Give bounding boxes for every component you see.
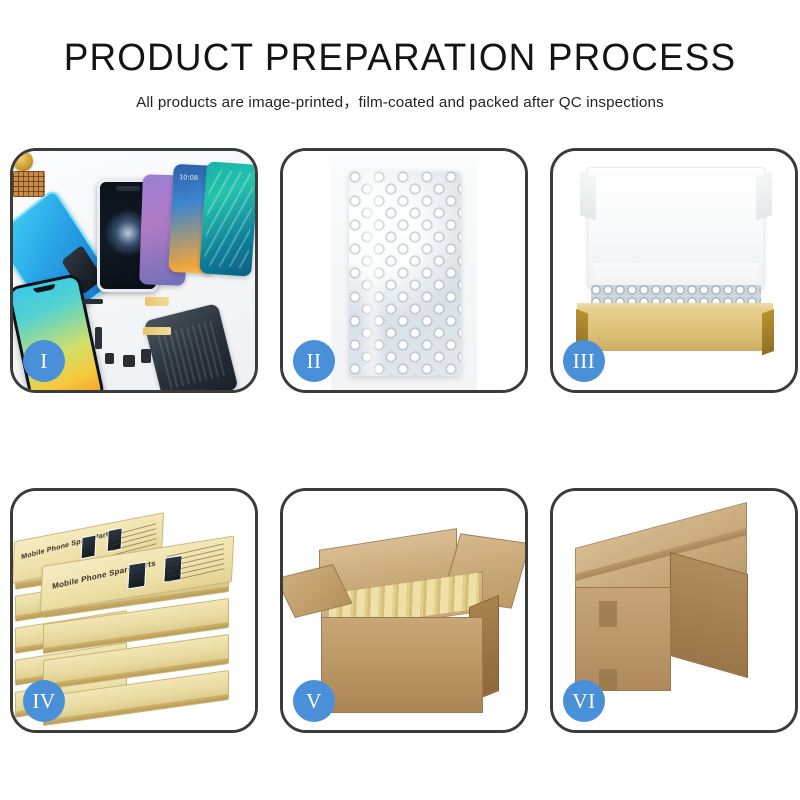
process-step-card-5: V <box>280 488 528 733</box>
product-preparation-process-page: PRODUCT PREPARATION PROCESS All products… <box>0 0 800 800</box>
bubble-wrapped-item <box>349 171 461 376</box>
sealed-carton-front-panel <box>575 587 671 691</box>
flex-ribbon-b <box>143 327 171 335</box>
box-spec-text-block-front <box>167 542 225 582</box>
small-part-strip <box>95 327 102 349</box>
page-subtitle: All products are image-printed，film-coat… <box>0 90 800 112</box>
page-header: PRODUCT PREPARATION PROCESS All products… <box>0 0 800 112</box>
box-front-panel <box>577 309 773 351</box>
process-step-card-2: II <box>280 148 528 393</box>
box-screen-image-c <box>127 562 146 590</box>
carton-front-panel <box>321 617 483 713</box>
phone-clock-label: 10:08 <box>179 174 198 182</box>
step-badge-2: II <box>293 340 335 382</box>
small-part-block <box>105 353 114 364</box>
gold-coil-part <box>13 151 33 171</box>
step-badge-1: I <box>23 340 65 382</box>
small-part-square <box>123 355 135 367</box>
step-badge-4: IV <box>23 680 65 722</box>
process-step-card-1: 10:08 I <box>10 148 258 393</box>
small-part-chip <box>141 349 151 363</box>
process-step-card-4: Mobile Phone Spare Parts Mobile Phone Sp… <box>10 488 258 733</box>
step-badge-5: V <box>293 680 335 722</box>
box-screen-image-a <box>80 534 96 559</box>
process-step-grid: 10:08 I <box>10 148 790 733</box>
copper-chip-part <box>13 171 45 197</box>
flex-ribbon-a <box>145 297 169 306</box>
phone-back-housing <box>143 303 238 390</box>
step-badge-6: VI <box>563 680 605 722</box>
process-step-card-6: VI <box>550 488 798 733</box>
film-gloss-highlight <box>359 171 385 376</box>
carton-tape-lower <box>599 669 617 691</box>
process-step-card-3: III <box>550 148 798 393</box>
page-title: PRODUCT PREPARATION PROCESS <box>12 38 788 79</box>
step-badge-3: III <box>563 340 605 382</box>
teal-phone <box>199 161 255 276</box>
small-part-bar <box>83 299 103 304</box>
sealed-carton-right-panel <box>670 552 748 678</box>
carton-tape-upper <box>599 601 617 627</box>
